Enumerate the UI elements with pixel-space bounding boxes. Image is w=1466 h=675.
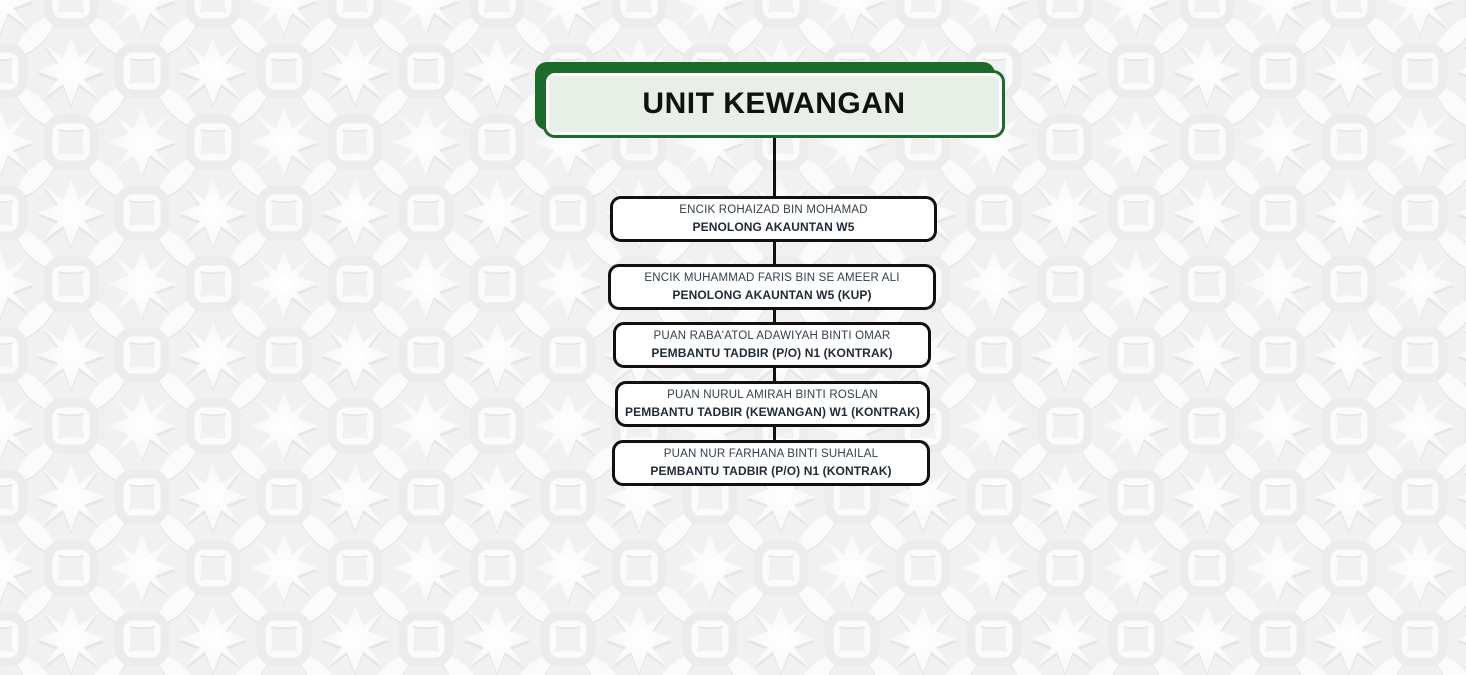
org-node-role: PEMBANTU TADBIR (KEWANGAN) W1 (KONTRAK) [625, 404, 920, 420]
org-node-name: ENCIK ROHAIZAD BIN MOHAMAD [679, 203, 868, 219]
org-node-role: PENOLONG AKAUNTAN W5 [693, 219, 855, 235]
org-node-name: PUAN NUR FARHANA BINTI SUHAILAL [664, 447, 879, 463]
root-node-unit-kewangan[interactable]: UNIT KEWANGAN [535, 62, 1005, 138]
page-title: UNIT KEWANGAN [642, 87, 905, 121]
org-node[interactable]: PUAN RABA'ATOL ADAWIYAH BINTI OMAR PEMBA… [613, 322, 931, 368]
org-node-role: PEMBANTU TADBIR (P/O) N1 (KONTRAK) [651, 345, 892, 361]
org-node-role: PEMBANTU TADBIR (P/O) N1 (KONTRAK) [650, 463, 891, 479]
org-node-name: ENCIK MUHAMMAD FARIS BIN SE AMEER ALI [644, 271, 899, 287]
org-node-name: PUAN NURUL AMIRAH BINTI ROSLAN [667, 388, 878, 404]
root-node-card: UNIT KEWANGAN [543, 70, 1005, 138]
org-node-name: PUAN RABA'ATOL ADAWIYAH BINTI OMAR [654, 329, 891, 345]
org-node[interactable]: ENCIK ROHAIZAD BIN MOHAMAD PENOLONG AKAU… [610, 196, 937, 242]
org-node[interactable]: PUAN NUR FARHANA BINTI SUHAILAL PEMBANTU… [612, 440, 930, 486]
org-chart: UNIT KEWANGAN ENCIK ROHAIZAD BIN MOHAMAD… [0, 0, 1466, 675]
org-node[interactable]: PUAN NURUL AMIRAH BINTI ROSLAN PEMBANTU … [615, 381, 930, 427]
org-node[interactable]: ENCIK MUHAMMAD FARIS BIN SE AMEER ALI PE… [608, 264, 936, 310]
org-node-role: PENOLONG AKAUNTAN W5 (KUP) [672, 287, 871, 303]
